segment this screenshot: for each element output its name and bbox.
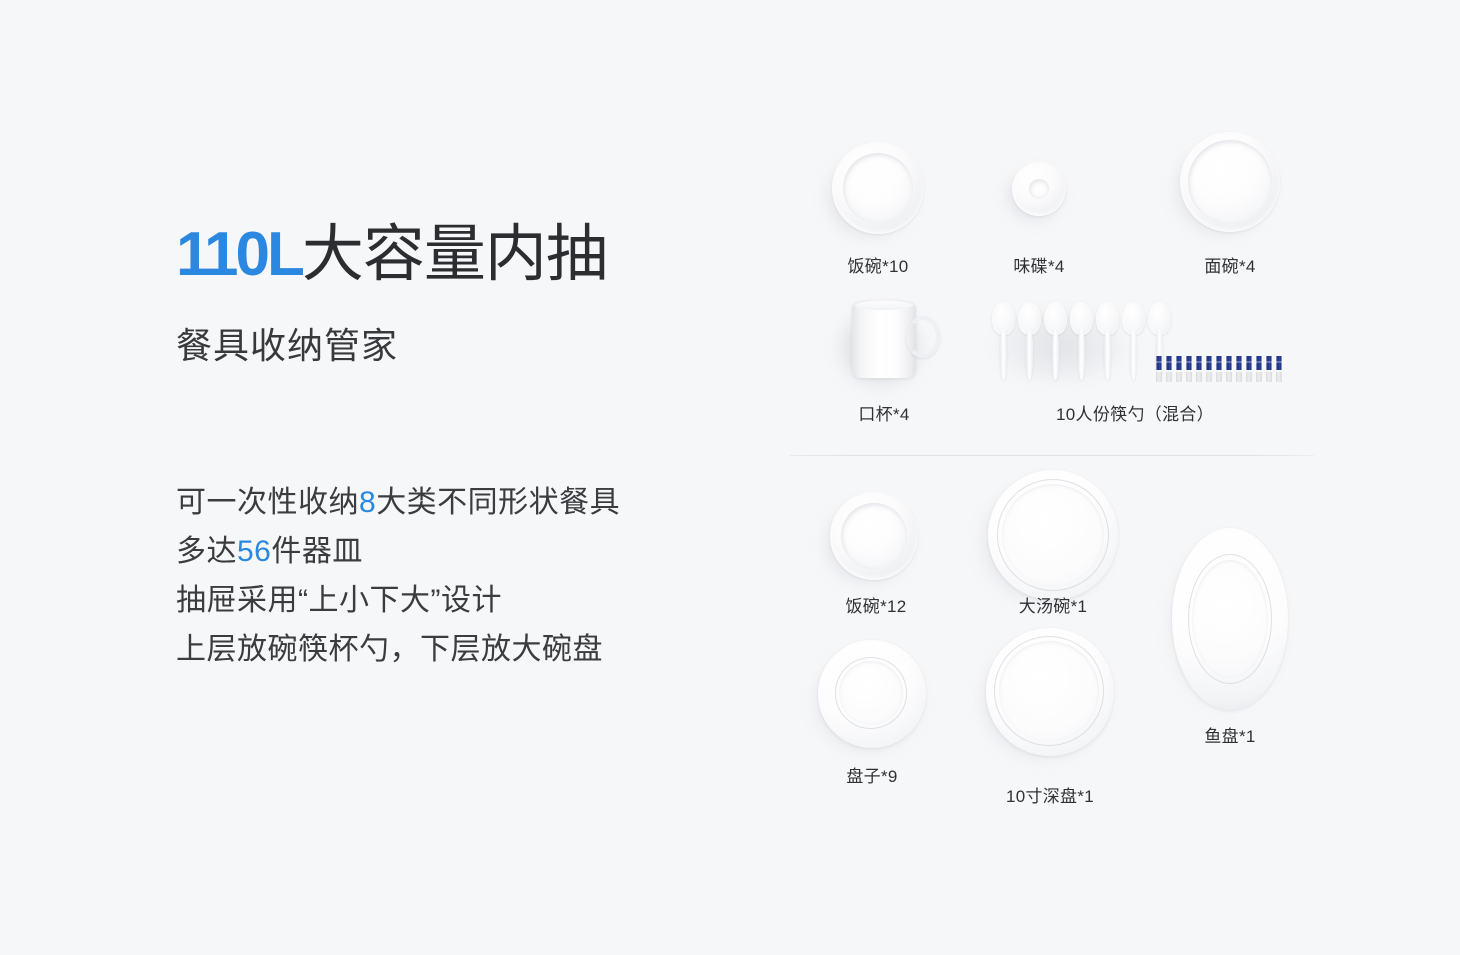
chopstick-icon (1156, 298, 1162, 382)
chopstick-tip (1256, 372, 1262, 382)
dish-well (1029, 179, 1049, 199)
chopstick-tip (1166, 372, 1172, 382)
chopstick-icon (1186, 298, 1192, 382)
feature-line-pre: 多达 (176, 535, 237, 568)
feature-line-pre: 抽屉采用“上小下大”设计 (176, 584, 502, 617)
spoon-icon (1018, 302, 1041, 380)
bowl-well (843, 153, 913, 223)
chopstick-band (1256, 356, 1262, 370)
spoon-handle (1026, 330, 1033, 380)
chopstick-band (1156, 356, 1162, 370)
chopstick-icon (1166, 298, 1172, 382)
feature-line: 可一次性收纳8大类不同形状餐具 (176, 478, 776, 527)
plate-center (1192, 560, 1268, 678)
feature-line: 上层放碗筷杯勺，下层放大碗盘 (176, 625, 776, 674)
chopstick-tip (1176, 372, 1182, 382)
bowl-well (841, 503, 907, 569)
feature-line-highlight: 56 (237, 535, 271, 568)
chopstick-band (1266, 356, 1272, 370)
chopstick-band (1246, 356, 1252, 370)
chopstick-icon (1206, 298, 1212, 382)
spoon-handle (1104, 330, 1111, 380)
chopstick-icon (1216, 298, 1222, 382)
chopstick-icon (1176, 298, 1182, 382)
dish-label: 口杯*4 (754, 400, 1014, 425)
bowl-well (1002, 484, 1104, 586)
spoon-handle (1000, 330, 1007, 380)
headline-rest: 大容量内抽 (302, 220, 607, 289)
chopstick-band (1166, 356, 1172, 370)
chopstick-band (1176, 356, 1182, 370)
chopstick-band (1216, 356, 1222, 370)
spoon-handle (1130, 330, 1137, 380)
plate-icon (818, 640, 926, 748)
mug-rim (854, 299, 914, 310)
chopstick-band (1226, 356, 1232, 370)
feature-line-post: 大类不同形状餐具 (376, 486, 620, 519)
spoon-icon (992, 302, 1015, 380)
deep-plate-icon (986, 628, 1114, 756)
dish-label: 鱼盘*1 (1100, 722, 1360, 747)
chopstick-tip (1206, 372, 1212, 382)
feature-description: 可一次性收纳8大类不同形状餐具 多达56件器皿 抽屉采用“上小下大”设计 上层放… (176, 478, 776, 674)
chopstick-band (1186, 356, 1192, 370)
chopstick-tip (1186, 372, 1192, 382)
feature-line: 多达56件器皿 (176, 527, 776, 576)
bowl-well (1188, 140, 1272, 224)
dish-label: 10寸深盘*1 (920, 782, 1180, 807)
spoon-icon (1070, 302, 1093, 380)
plate-center (999, 641, 1099, 741)
fish-plate-icon (1172, 528, 1288, 710)
spoon-handle (1078, 330, 1085, 380)
rice-bowl-icon (832, 142, 924, 234)
feature-line-post: 件器皿 (271, 535, 363, 568)
rice-bowl-icon (830, 492, 918, 580)
feature-line-pre: 可一次性收纳 (176, 486, 359, 519)
spoon-icon (1044, 302, 1067, 380)
chopstick-icon (1256, 298, 1262, 382)
chopstick-tip (1276, 372, 1282, 382)
spoon-handle (1052, 330, 1059, 380)
chopstick-band (1236, 356, 1242, 370)
feature-line-pre: 上层放碗筷杯勺，下层放大碗盘 (176, 633, 603, 666)
page-title: 110L大容量内抽 (176, 222, 736, 287)
sauce-dish-icon (1012, 162, 1066, 216)
chopstick-tip (1156, 372, 1162, 382)
mug-handle (906, 316, 940, 358)
chopstick-tip (1246, 372, 1252, 382)
chopstick-icon (1276, 298, 1282, 382)
chopstick-band (1196, 356, 1202, 370)
headline-block: 110L大容量内抽 餐具收纳管家 (176, 222, 736, 369)
chopstick-tip (1266, 372, 1272, 382)
dishware-panel: 饭碗*10 味碟*4 面碗*4 口杯*4 (790, 110, 1320, 830)
chopstick-tip (1226, 372, 1232, 382)
chopstick-icon (1266, 298, 1272, 382)
chopstick-tip (1236, 372, 1242, 382)
capacity-value: 110L (176, 220, 302, 289)
chopstick-tip (1216, 372, 1222, 382)
chopstick-icon (1236, 298, 1242, 382)
dish-label: 10人份筷勺（混合） (1005, 400, 1265, 425)
chopstick-icon (1226, 298, 1232, 382)
chopstick-tip (1196, 372, 1202, 382)
dish-label: 面碗*4 (1100, 252, 1360, 277)
chopstick-icon (1246, 298, 1252, 382)
chopstick-band (1206, 356, 1212, 370)
spoon-icon (1122, 302, 1145, 380)
feature-line: 抽屉采用“上小下大”设计 (176, 576, 776, 625)
noodle-bowl-icon (1180, 132, 1280, 232)
product-feature-slide: 110L大容量内抽 餐具收纳管家 可一次性收纳8大类不同形状餐具 多达56件器皿… (0, 0, 1460, 955)
chopstick-icon (1196, 298, 1202, 382)
plate-center (839, 661, 903, 725)
spoon-icon (1096, 302, 1119, 380)
chopstick-band (1276, 356, 1282, 370)
feature-line-highlight: 8 (359, 486, 376, 519)
subtitle: 餐具收纳管家 (176, 317, 736, 369)
soup-bowl-icon (988, 470, 1118, 600)
dish-label: 大汤碗*1 (923, 592, 1183, 617)
